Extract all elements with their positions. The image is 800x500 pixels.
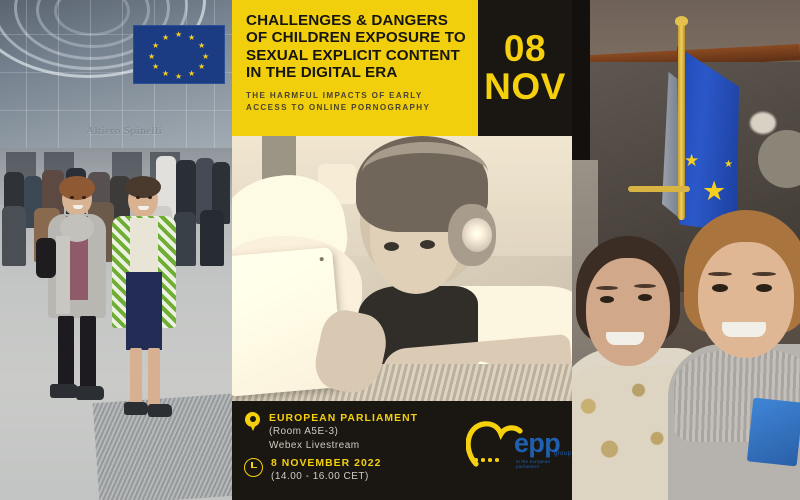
date-month: NOV bbox=[484, 67, 566, 107]
building-name-sign: Altiero Spinelli bbox=[86, 125, 162, 137]
flag-pole-finial bbox=[675, 16, 688, 26]
child-with-tablet-photo bbox=[232, 136, 572, 401]
glass-facade: ★ ★ ★ ★ ★ ★ ★ ★ ★ ★ ★ ★ Altiero Spinelli bbox=[0, 0, 232, 150]
window-mullion bbox=[26, 0, 27, 150]
european-parliament-building-photo: ★ ★ ★ ★ ★ ★ ★ ★ ★ ★ ★ ★ Altiero Spinelli bbox=[0, 0, 232, 500]
title-line: IN THE DIGITAL ERA bbox=[246, 64, 472, 81]
woman-two-face bbox=[698, 242, 794, 358]
smile bbox=[606, 332, 644, 345]
epp-group-logo: epp group in the european parliament bbox=[466, 418, 564, 476]
flag-pole-crossbar bbox=[628, 186, 690, 192]
visitor-badge bbox=[747, 398, 800, 467]
event-poster: ★ ★ ★ ★ ★ ★ ★ ★ ★ ★ ★ ★ Altiero Spinelli bbox=[0, 0, 800, 500]
child-eye bbox=[384, 242, 399, 251]
poster-header: CHALLENGES & DANGERS OF CHILDREN EXPOSUR… bbox=[232, 0, 572, 136]
eye bbox=[712, 284, 728, 292]
child-eye bbox=[420, 240, 435, 249]
title-line: OF CHILDREN EXPOSURE TO bbox=[246, 29, 472, 46]
right-photo-panel: ★ ★ ★ bbox=[572, 0, 800, 500]
subtitle-line: THE HARMFUL IMPACTS OF EARLY bbox=[246, 90, 470, 102]
flag-star: ★ bbox=[724, 160, 733, 170]
headphone-disc bbox=[462, 218, 492, 252]
event-time: (14.00 - 16.00 CET) bbox=[271, 470, 381, 484]
title-line: SEXUAL EXPLICIT CONTENT bbox=[246, 47, 472, 64]
subtitle-line: ACCESS TO ONLINE PORNOGRAPHY bbox=[246, 102, 470, 114]
window-mullion bbox=[58, 0, 59, 150]
schedule-row: 8 NOVEMBER 2022 (14.00 - 16.00 CET) bbox=[244, 457, 381, 484]
flag-star: ★ bbox=[684, 152, 699, 169]
logo-dots bbox=[474, 458, 499, 462]
eye bbox=[756, 284, 772, 292]
date-day: 08 bbox=[504, 30, 546, 67]
smile bbox=[722, 322, 766, 337]
livestream-info: Webex Livestream bbox=[269, 439, 418, 453]
eyebrow bbox=[634, 284, 656, 288]
page-subtitle: THE HARMFUL IMPACTS OF EARLY ACCESS TO O… bbox=[246, 90, 470, 113]
event-date: 8 NOVEMBER 2022 bbox=[271, 457, 381, 470]
logo-tagline: in the european parliament bbox=[516, 459, 564, 469]
eye bbox=[600, 296, 614, 303]
eyebrow bbox=[596, 286, 618, 290]
window-rail bbox=[0, 110, 232, 111]
flag-star: ★ bbox=[702, 178, 726, 205]
eyebrow bbox=[708, 272, 732, 276]
eye bbox=[638, 294, 652, 301]
ceiling-light bbox=[750, 112, 776, 134]
page-title: CHALLENGES & DANGERS OF CHILDREN EXPOSUR… bbox=[246, 12, 472, 82]
crowd-person bbox=[2, 206, 26, 266]
title-line: CHALLENGES & DANGERS bbox=[246, 12, 472, 29]
crowd-person bbox=[200, 210, 224, 266]
eu-flag-sign: ★ ★ ★ ★ ★ ★ ★ ★ ★ ★ ★ ★ bbox=[133, 25, 225, 84]
logo-group-label: group bbox=[554, 451, 571, 457]
date-badge: 08 NOV bbox=[478, 0, 572, 136]
map-pin-icon bbox=[244, 412, 261, 434]
room-number: (Room A5E-3) bbox=[269, 425, 418, 439]
dark-wall-edge bbox=[572, 0, 590, 160]
selfie-with-eu-flag-photo: ★ ★ ★ bbox=[572, 0, 800, 500]
clock-icon bbox=[244, 458, 263, 477]
crowd-person bbox=[174, 212, 196, 266]
woman-one-face bbox=[586, 258, 670, 366]
eyebrow bbox=[752, 272, 776, 276]
location-row: EUROPEAN PARLIAMENT (Room A5E-3) Webex L… bbox=[244, 412, 418, 452]
left-photo-panel: ★ ★ ★ ★ ★ ★ ★ ★ ★ ★ ★ ★ Altiero Spinelli bbox=[0, 0, 232, 500]
venue-name: EUROPEAN PARLIAMENT bbox=[269, 412, 418, 425]
